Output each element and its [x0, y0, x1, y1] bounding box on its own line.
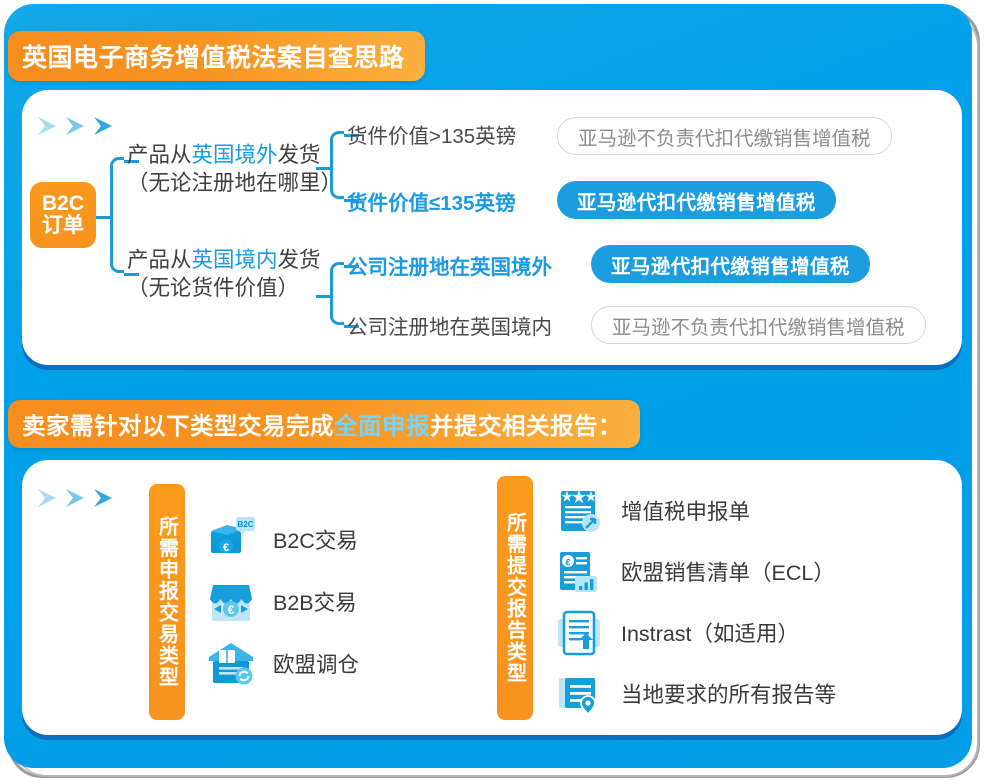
condition-bracket-upper: [330, 131, 344, 199]
list-item: 当地要求的所有报告等: [553, 663, 836, 724]
section2-title-banner: 卖家需针对以下类型交易完成全面申报并提交相关报告：: [8, 400, 640, 448]
section2-title-highlight: 全面申报: [334, 407, 430, 441]
bracket-stub: [96, 216, 113, 219]
shop-euro-icon: €: [205, 575, 257, 627]
declare-items-list: € B2C B2C交易 € B2B交易: [205, 508, 359, 694]
branch-label-highlight: 英国境外: [192, 143, 278, 167]
condition-label: 货件价值≤135英镑: [347, 186, 515, 216]
branch-label-text-b: 发货: [278, 248, 321, 272]
list-item-label: 欧盟调仓: [273, 648, 359, 679]
condition-label: 公司注册地在英国境外: [347, 250, 552, 280]
chevron-group-card1: [36, 114, 118, 138]
branch-label-text-b: 发货: [278, 143, 321, 167]
list-item-label: B2C交易: [273, 524, 358, 555]
svg-text:€: €: [565, 557, 570, 567]
branch-sublabel: （无论注册地在哪里）: [127, 169, 342, 197]
vat-return-doc-icon: [553, 485, 605, 537]
location-doc-icon: [553, 668, 605, 720]
outcome-pill-inactive: 亚马逊不负责代扣代缴销售增值税: [591, 306, 926, 344]
chevron-right-icon: [36, 114, 62, 138]
list-item-label: 增值税申报单: [621, 495, 750, 526]
list-item-label: 欧盟销售清单（ECL）: [621, 556, 835, 587]
branch-label-overseas: 产品从英国境外发货 （无论注册地在哪里）: [127, 141, 342, 198]
outcome-pill-inactive: 亚马逊不负责代扣代缴销售增值税: [557, 117, 892, 155]
list-item: € B2C B2C交易: [205, 508, 359, 570]
svg-text:B2C: B2C: [237, 520, 253, 529]
condition-label: 货件价值>135英镑: [347, 119, 516, 149]
warehouse-transfer-icon: [205, 637, 257, 689]
condition-label: 公司注册地在英国境内: [347, 310, 552, 340]
declare-types-strip: 所需申报交易类型: [149, 484, 185, 720]
chevron-right-icon: [92, 486, 118, 510]
chevron-right-icon: [92, 114, 118, 138]
branch-label-text-a: 产品从: [127, 248, 192, 272]
list-item: 增值税申报单: [553, 480, 836, 541]
b2c-order-badge: B2C 订单: [30, 182, 96, 248]
branch-bracket-root: [110, 157, 124, 273]
list-item: 欧盟调仓: [205, 632, 359, 694]
upload-doc-icon: [553, 607, 605, 659]
list-item: € 欧盟销售清单（ECL）: [553, 541, 836, 602]
svg-text:€: €: [223, 542, 229, 554]
condition-bracket-lower: [330, 262, 344, 325]
chevron-right-icon: [64, 114, 90, 138]
b2c-badge-line2: 订单: [42, 215, 84, 237]
infographic-root: 英国电子商务增值税法案自查思路 B2C 订单 产品从英国境外发货 （无论注册地在…: [0, 0, 986, 784]
chevron-right-icon: [36, 486, 62, 510]
chevron-group-card2: [36, 486, 118, 510]
list-item: € B2B交易: [205, 570, 359, 632]
branch-label-highlight: 英国境内: [192, 248, 278, 272]
list-item-label: 当地要求的所有报告等: [621, 678, 836, 709]
bracket-stub: [316, 295, 333, 298]
b2c-badge-line1: B2C: [42, 193, 84, 215]
chevron-right-icon: [64, 486, 90, 510]
list-item: Instrast（如适用）: [553, 602, 836, 663]
outcome-pill-active: 亚马逊代扣代缴销售增值税: [591, 245, 870, 283]
section1-title-banner: 英国电子商务增值税法案自查思路: [8, 31, 425, 81]
branch-label-text-a: 产品从: [127, 143, 192, 167]
wallet-b2c-icon: € B2C: [205, 513, 257, 565]
svg-text:€: €: [228, 603, 235, 617]
branch-label-domestic: 产品从英国境内发货 （无论货件价值）: [127, 246, 321, 303]
section2-title-text-b: 并提交相关报告：: [430, 407, 622, 441]
outcome-pill-active: 亚马逊代扣代缴销售增值税: [557, 181, 836, 219]
submit-reports-strip: 所需提交报告类型: [497, 476, 533, 720]
branch-sublabel: （无论货件价值）: [127, 274, 321, 302]
euro-report-chart-icon: €: [553, 546, 605, 598]
submit-items-list: 增值税申报单 €: [553, 480, 836, 724]
section2-title-text-a: 卖家需针对以下类型交易完成: [22, 407, 334, 441]
list-item-label: Instrast（如适用）: [621, 617, 799, 648]
bracket-stub: [316, 167, 333, 170]
list-item-label: B2B交易: [273, 586, 357, 617]
section1-title-text: 英国电子商务增值税法案自查思路: [22, 38, 405, 74]
